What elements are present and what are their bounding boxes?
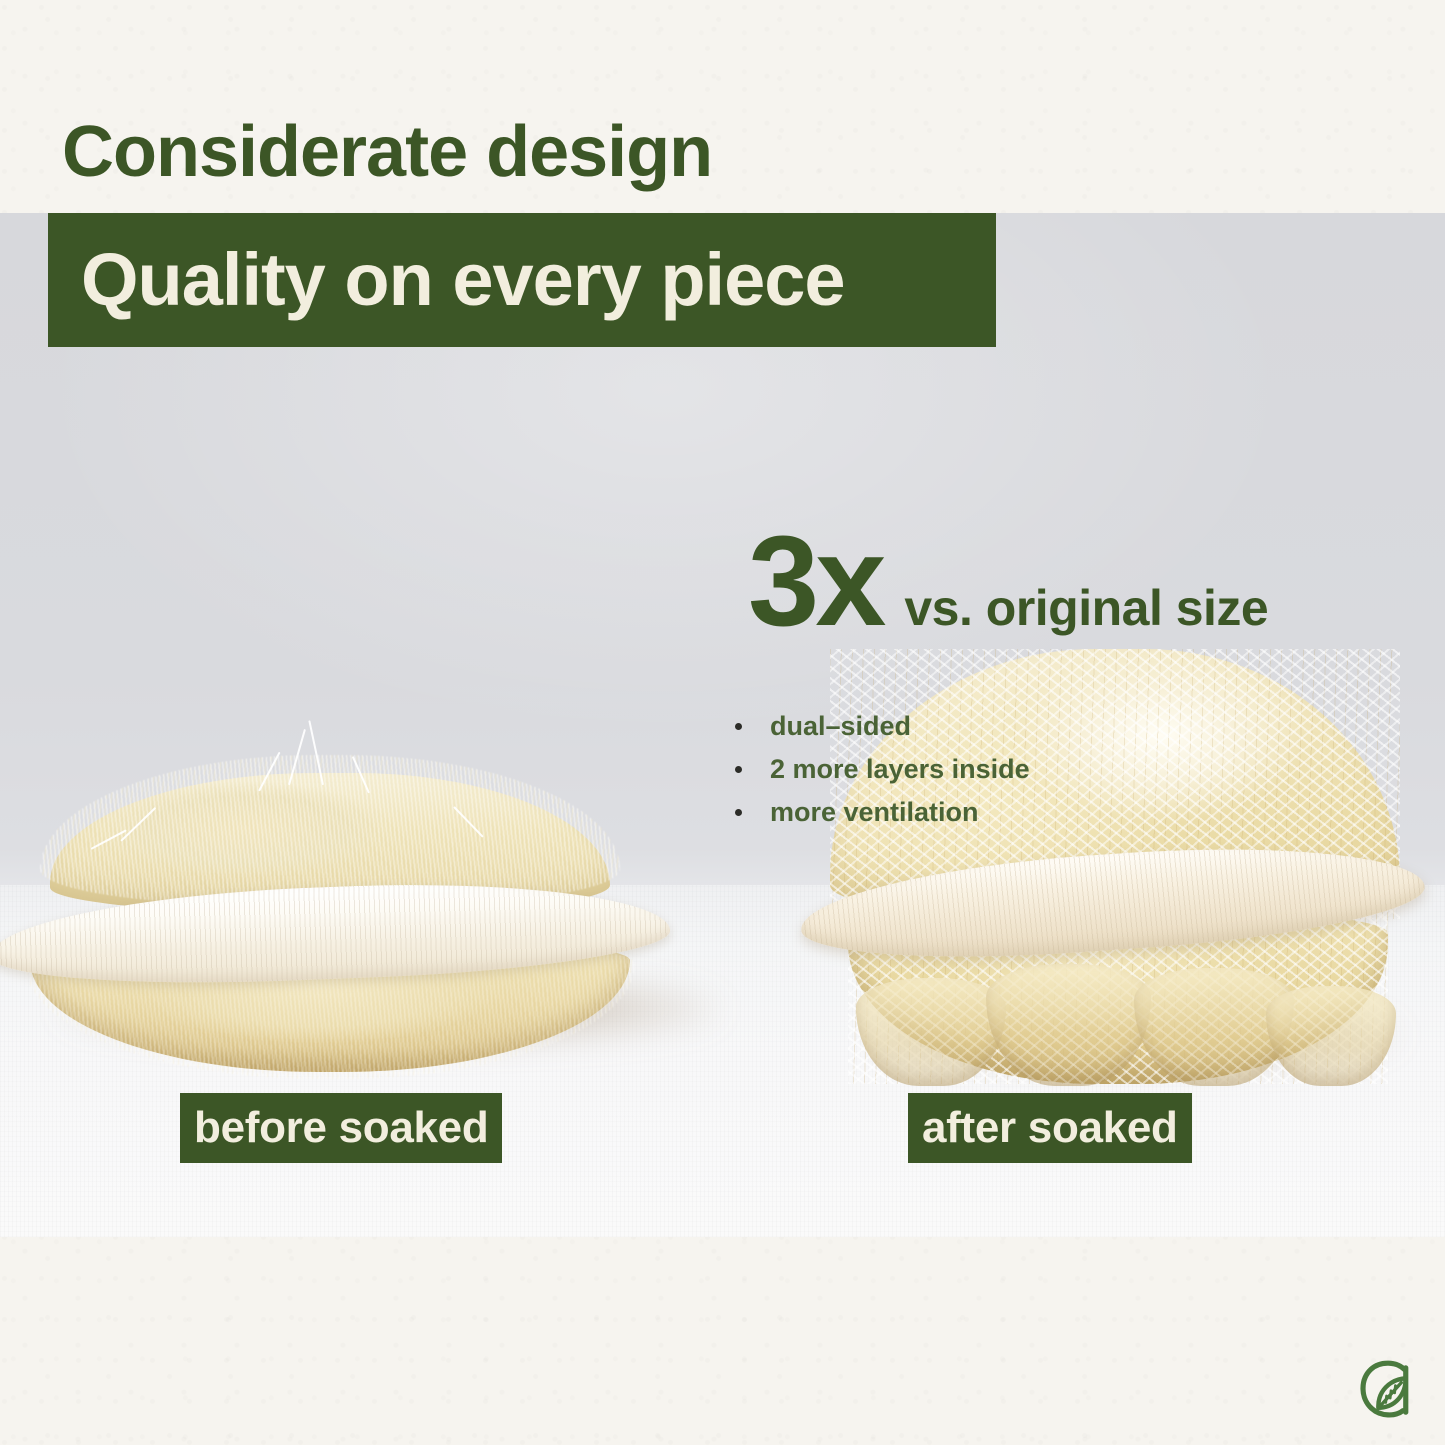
product-infographic: before soaked after soaked Considerate d… xyxy=(0,0,1445,1445)
feature-label: 2 more layers inside xyxy=(770,756,1030,783)
subhead-label: Quality on every piece xyxy=(81,243,845,317)
bullet-icon xyxy=(735,809,742,816)
feature-item: dual–sided xyxy=(735,713,1030,740)
feature-label: more ventilation xyxy=(770,799,979,826)
caption-after-label: after soaked xyxy=(922,1103,1178,1153)
callout-caption: vs. original size xyxy=(904,583,1268,633)
callout-multiplier: 3x xyxy=(748,524,882,639)
leaf-monogram-icon xyxy=(1351,1353,1425,1427)
loofah-lobe xyxy=(986,964,1151,1086)
comparison-photo: before soaked after soaked xyxy=(0,213,1445,1237)
feature-label: dual–sided xyxy=(770,713,911,740)
feature-item: more ventilation xyxy=(735,799,1030,826)
page-headline: Considerate design xyxy=(62,116,712,188)
bullet-icon xyxy=(735,723,742,730)
feature-list: dual–sided 2 more layers inside more ven… xyxy=(735,713,1030,842)
caption-after-soaked: after soaked xyxy=(908,1093,1192,1163)
bullet-icon xyxy=(735,766,742,773)
caption-before-soaked: before soaked xyxy=(180,1093,502,1163)
size-callout: 3x vs. original size xyxy=(748,524,1268,639)
feature-item: 2 more layers inside xyxy=(735,756,1030,783)
caption-before-label: before soaked xyxy=(194,1103,488,1153)
subhead-band: Quality on every piece xyxy=(48,213,996,347)
loofah-before-soaked xyxy=(0,769,670,1019)
